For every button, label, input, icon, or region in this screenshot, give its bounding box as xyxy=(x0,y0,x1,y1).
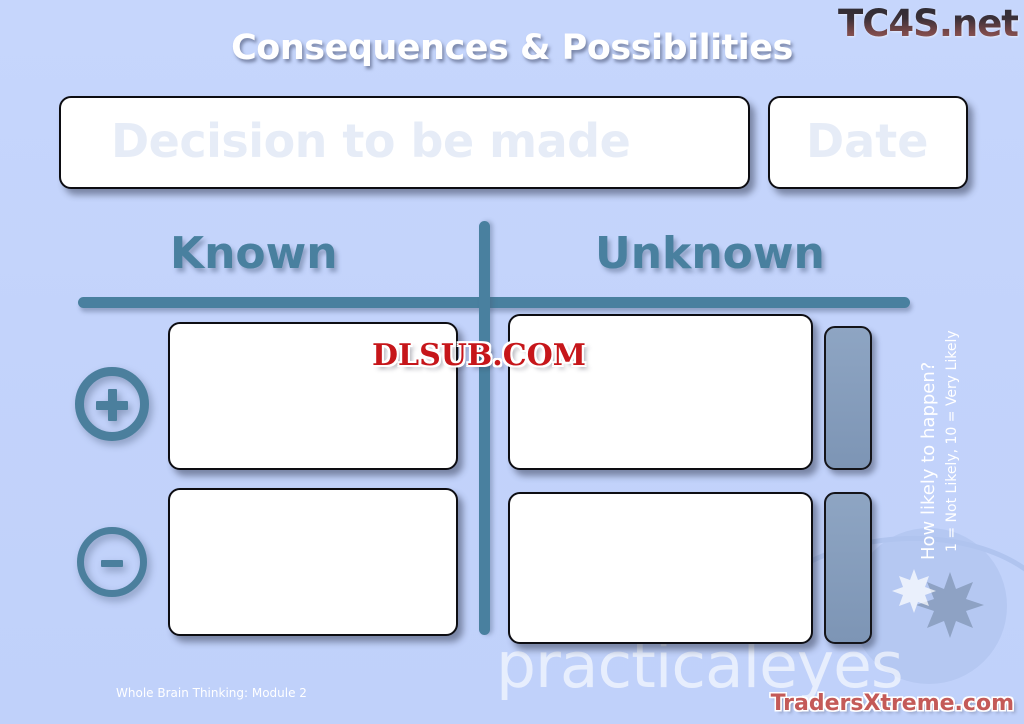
minus-circle-icon xyxy=(77,527,147,597)
plus-circle-icon xyxy=(75,367,149,441)
plus-vertical-bar xyxy=(108,389,117,421)
horizontal-divider xyxy=(78,297,910,308)
footer-note: Whole Brain Thinking: Module 2 xyxy=(116,686,307,700)
quadrant-unknown-positive[interactable] xyxy=(508,314,813,470)
minus-horizontal-bar xyxy=(101,560,123,567)
decision-placeholder: Decision to be made xyxy=(111,114,630,168)
score-box-positive[interactable] xyxy=(824,326,872,470)
vertical-divider xyxy=(479,221,490,635)
date-input[interactable]: Date xyxy=(768,96,968,189)
column-header-unknown: Unknown xyxy=(595,228,825,279)
likelihood-question-label: How likely to happen? xyxy=(918,362,939,560)
tradersxtreme-watermark: TradersXtreme.com xyxy=(771,691,1014,716)
likelihood-scale-label: 1 = Not Likely, 10 = Very Likely xyxy=(944,330,960,552)
score-box-negative[interactable] xyxy=(824,492,872,644)
decision-input[interactable]: Decision to be made xyxy=(59,96,750,189)
page-title: Consequences & Possibilities xyxy=(0,28,1024,68)
column-header-known: Known xyxy=(170,228,338,279)
worksheet-canvas: practicaleyes TC4S.net Consequences & Po… xyxy=(0,0,1024,724)
date-placeholder: Date xyxy=(806,114,928,168)
quadrant-known-positive[interactable] xyxy=(168,322,458,470)
quadrant-known-negative[interactable] xyxy=(168,488,458,636)
quadrant-unknown-negative[interactable] xyxy=(508,492,813,644)
